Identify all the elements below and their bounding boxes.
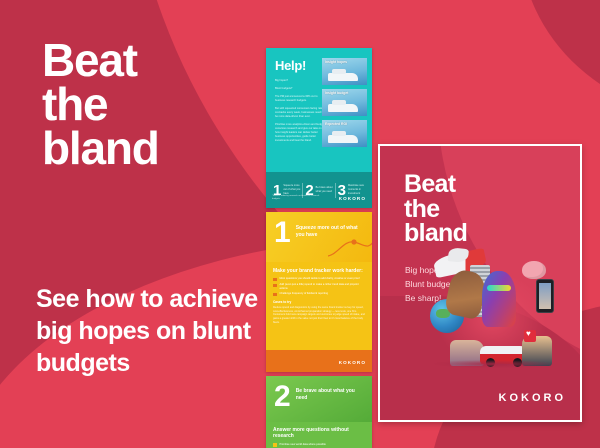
headline-line-1: Beat [42,38,159,82]
thumbnail-label: Insight budget [325,91,348,95]
featured-card-title: Beat the bland [404,172,467,246]
boat-icon [328,73,358,81]
bullet-icon [273,443,277,447]
footnote-text: *Source: industry research on business r… [272,195,328,201]
body-text: Reduce spend and diagnostics by using th… [273,306,365,325]
bullet-icon [273,284,277,288]
headline-line-2: the [42,82,159,126]
heart-icon [524,330,536,342]
list-item: Prioritise new world data where possible [273,443,365,447]
card-number: 2 [274,384,291,422]
thumbnail-item[interactable]: Insight hopes [322,58,367,85]
teal-paragraph: Big hopes? [275,79,327,83]
face-portrait-icon [482,271,516,327]
card-number: 1 [274,220,291,262]
hero-title-line-3: bland [404,221,467,246]
brain-icon [522,261,546,279]
section-label: Cases to try [273,300,365,304]
teal-paragraph: But with squeezed consumers facing ratio… [275,107,327,119]
yellow-card-footer: KOKORO [266,350,372,372]
subheadline: See how to achieve big hopes on blunt bu… [36,283,261,379]
collage-base-shadow [434,360,552,368]
preview-card-yellow[interactable]: 1 Squeeze more out of what you have Make… [266,212,372,372]
headline-line-3: bland [42,126,159,170]
featured-card[interactable]: Beat the bland Big hopes? Blunt budgets?… [378,144,582,422]
page-title: Beat the bland [42,38,159,170]
list-item: Add (even just a little) spend to make a… [273,283,365,290]
kokoro-logo: KOKORO [339,360,366,365]
slide-canvas: Beat the bland See how to achieve big ho… [0,0,600,448]
bullet-text: Most questions you should tackle to add … [280,277,360,281]
green-card-body: Answer more questions without research P… [266,422,372,447]
yellow-card-body: Make your brand tracker work harder: Mos… [266,262,372,325]
hero-title-line-2: the [404,197,467,222]
thumbnail-label: Expected ROI [325,122,347,126]
card-subheading: Make your brand tracker work harder: [273,268,365,274]
collage-illustration [428,253,558,368]
bullet-text: Add (even just a little) spend to make a… [280,283,366,290]
boat-icon [328,135,358,143]
bullet-icon [273,278,277,282]
green-card-header: 2 Be brave about what you need [266,376,372,422]
preview-card-green[interactable]: 2 Be brave about what you need Answer mo… [266,376,372,448]
bullet-icon [273,293,277,297]
boat-icon [328,104,358,112]
footer-bar: KOKORO [266,352,372,372]
bullet-text: Challenge frequency of fieldwork reporti… [280,292,329,296]
teal-paragraph: The PM just announced a 30% cut to busin… [275,95,327,103]
teal-card-body: Help! Big hopes? Blunt budgets? The PM j… [266,48,372,172]
thumbnail-label: Insight hopes [325,60,347,64]
card-subheading: Answer more questions without research [273,427,365,440]
teal-paragraph: Prioritise more analytics-driven and bud… [275,123,327,143]
sparkline-chart [328,236,372,258]
preview-card-teal[interactable]: Help! Big hopes? Blunt budgets? The PM j… [266,48,372,208]
thumbnail-list: Insight hopes Insight budget Expected RO… [322,58,367,151]
bullet-text: Prioritise new world data where possible [280,443,326,447]
hero-title-line-1: Beat [404,172,467,197]
card-heading: Be brave about what you need [296,384,364,422]
kokoro-logo: KOKORO [339,196,366,201]
thumbnail-item[interactable]: Expected ROI [322,120,367,147]
smartphone-icon [536,279,554,313]
list-item: Most questions you should tackle to add … [273,277,365,281]
kokoro-logo: KOKORO [499,392,567,404]
teal-card-footer: *Source: industry research on business r… [266,188,372,208]
list-item: Challenge frequency of fieldwork reporti… [273,292,365,296]
yellow-card-header: 1 Squeeze more out of what you have [266,212,372,262]
teal-paragraph: Blunt budgets? [275,87,327,91]
thumbnail-item[interactable]: Insight budget [322,89,367,116]
